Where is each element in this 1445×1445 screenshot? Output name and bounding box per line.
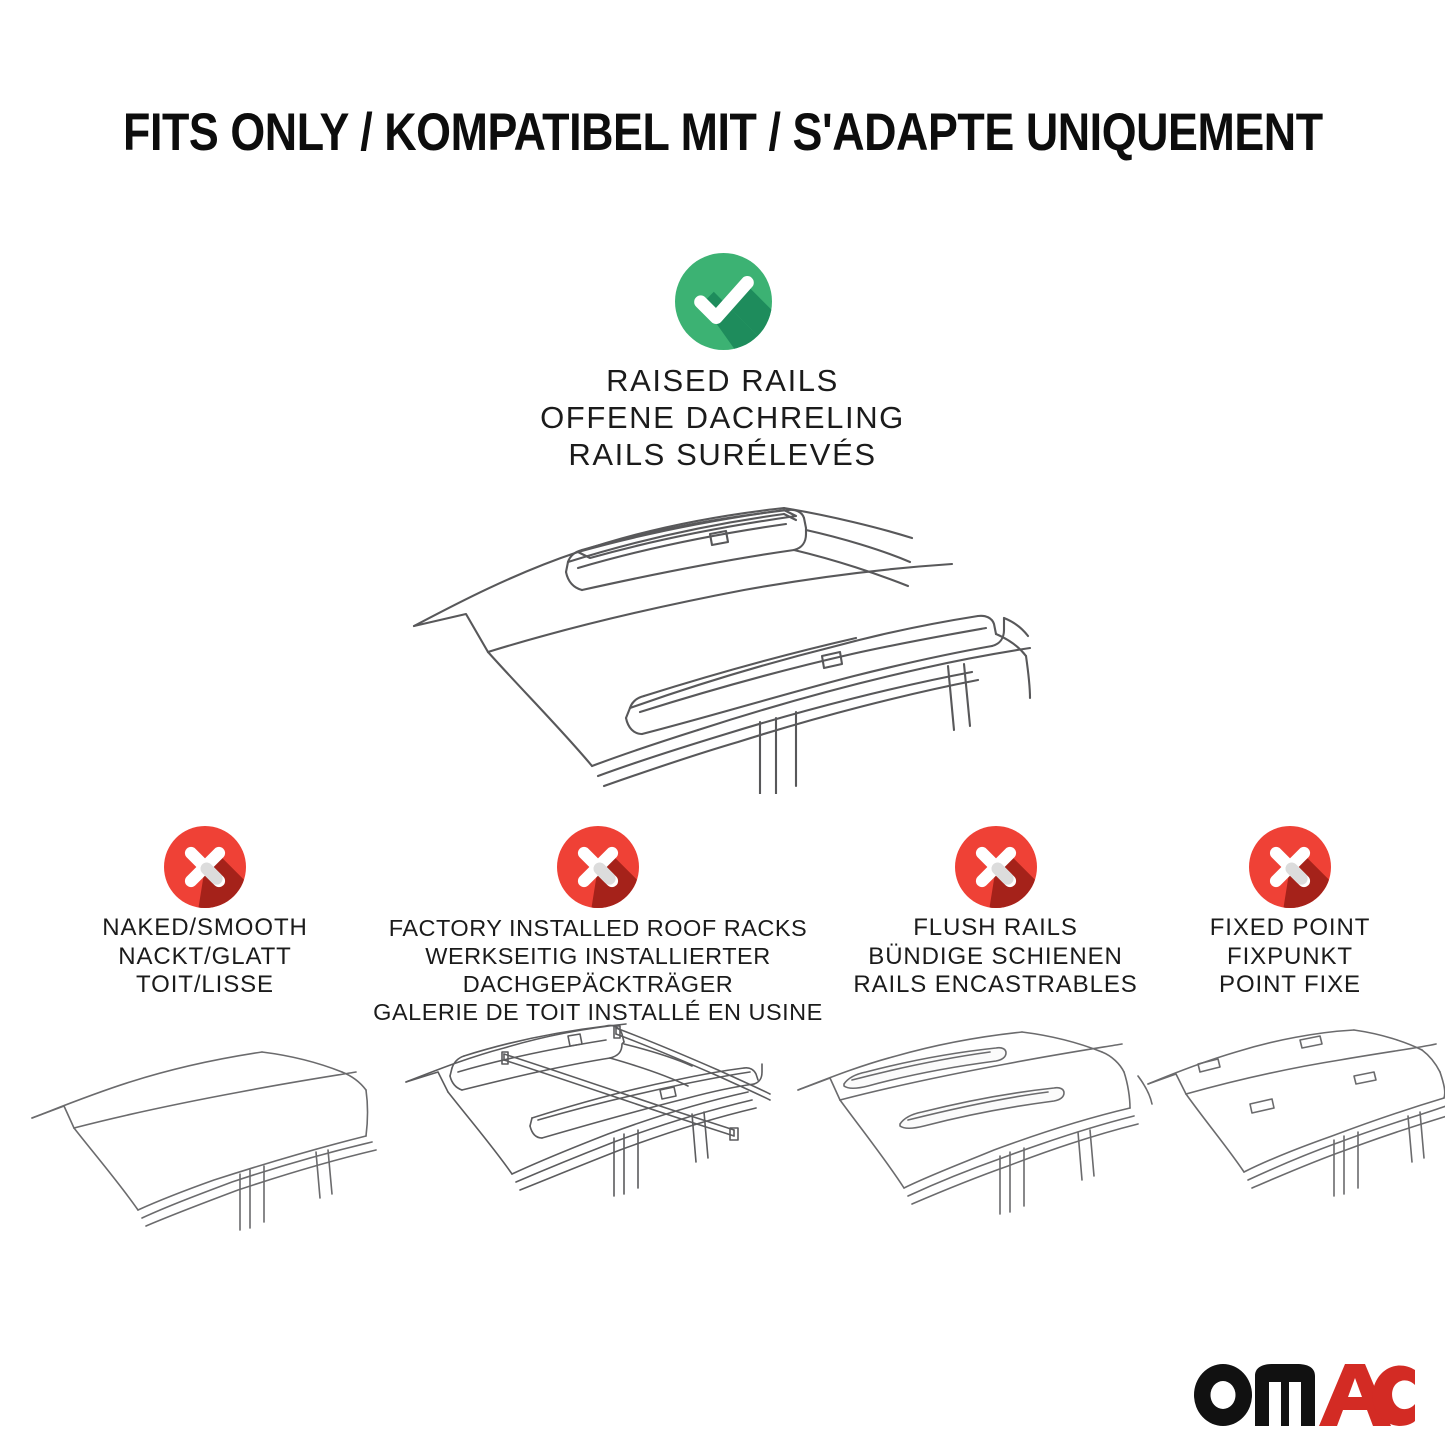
car-roof-fixed-point-illustration [1142, 1022, 1445, 1254]
omac-logo [1193, 1364, 1415, 1426]
caption-line: RAILS SURÉLEVÉS [0, 436, 1445, 473]
cross-glyph [955, 826, 1037, 908]
page-title-text: FITS ONLY / KOMPATIBEL MIT / S'ADAPTE UN… [123, 103, 1323, 163]
caption-line: BÜNDIGE SCHIENEN [838, 943, 1153, 972]
caption-line: FIXED POINT [1160, 914, 1420, 943]
cross-circle-icon [955, 826, 1037, 908]
caption-line: FLUSH RAILS [838, 914, 1153, 943]
check-glyph [675, 253, 772, 350]
caption-line: POINT FIXE [1160, 971, 1420, 1000]
cross-glyph [164, 826, 246, 908]
caption-line: NAKED/SMOOTH [40, 914, 370, 943]
incompatible-caption: FIXED POINT FIXPUNKT POINT FIXE [1160, 914, 1420, 1000]
caption-line: TOIT/LISSE [40, 971, 370, 1000]
cross-glyph [557, 826, 639, 908]
compatible-caption: RAISED RAILS OFFENE DACHRELING RAILS SUR… [0, 362, 1445, 473]
caption-line: OFFENE DACHRELING [0, 399, 1445, 436]
caption-line: DACHGEPÄCKTRÄGER [368, 970, 828, 998]
caption-line: FACTORY INSTALLED ROOF RACKS [368, 914, 828, 942]
incompatible-caption: FLUSH RAILS BÜNDIGE SCHIENEN RAILS ENCAS… [838, 914, 1153, 1000]
caption-line: NACKT/GLATT [40, 943, 370, 972]
incompatible-caption: NAKED/SMOOTH NACKT/GLATT TOIT/LISSE [40, 914, 370, 1000]
cross-glyph [1249, 826, 1331, 908]
cross-circle-icon [1249, 826, 1331, 908]
caption-line: FIXPUNKT [1160, 943, 1420, 972]
cross-circle-icon [557, 826, 639, 908]
logo-letter-m [1255, 1364, 1315, 1426]
caption-line: RAISED RAILS [0, 362, 1445, 399]
page-title: FITS ONLY / KOMPATIBEL MIT / S'ADAPTE UN… [0, 103, 1445, 163]
car-roof-naked-smooth-illustration [10, 1022, 392, 1254]
car-roof-flush-rails-illustration [772, 1022, 1154, 1254]
check-circle-icon [675, 253, 772, 350]
car-roof-raised-rails-illustration [392, 494, 1032, 794]
cross-circle-icon [164, 826, 246, 908]
car-roof-factory-racks-illustration [392, 1010, 774, 1254]
logo-letter-o [1194, 1364, 1252, 1426]
caption-line: RAILS ENCASTRABLES [838, 971, 1153, 1000]
caption-line: WERKSEITIG INSTALLIERTER [368, 942, 828, 970]
